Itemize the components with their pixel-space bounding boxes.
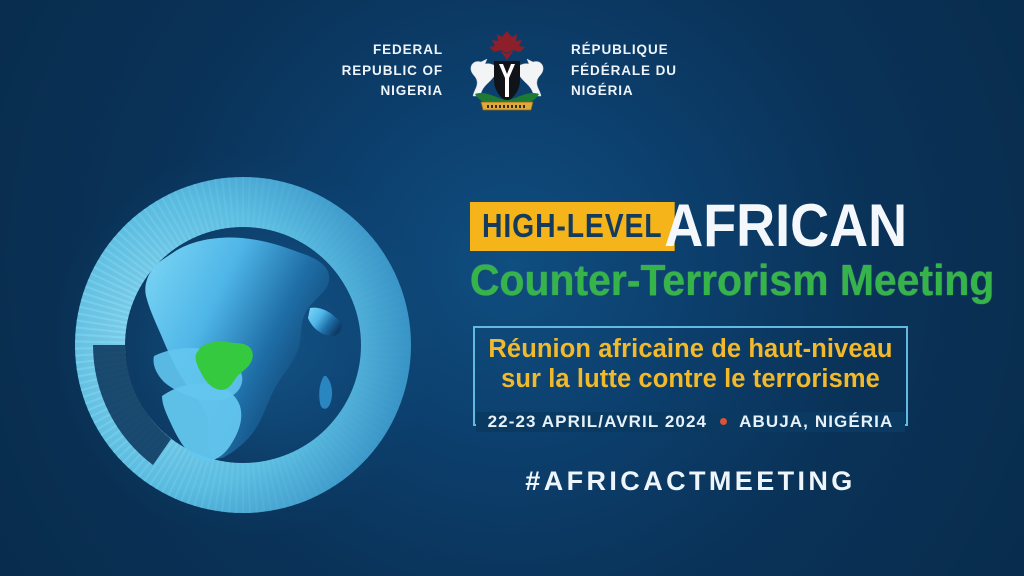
title-row: HIGH-LEVEL AFRICAN [470, 196, 990, 256]
africa-globe-graphic [58, 160, 428, 530]
separator-dot-icon [720, 418, 727, 425]
poster-canvas: FEDERAL REPUBLIC OF NIGERIA [0, 0, 1024, 576]
high-level-badge: HIGH-LEVEL [470, 202, 675, 251]
event-location: ABUJA, NIGÉRIA [739, 412, 893, 431]
event-date: 22-23 APRIL/AVRIL 2024 [488, 412, 707, 431]
french-title-line1: Réunion africaine de haut-niveau [473, 334, 908, 364]
header-left-line2: REPUBLIC OF [323, 61, 443, 82]
content-block: HIGH-LEVEL AFRICAN Counter-Terrorism Mee… [470, 0, 1024, 576]
header-left-line1: FEDERAL [323, 40, 443, 61]
event-hashtag: #AFRICACTMEETING [473, 466, 908, 497]
french-title-line2: sur la lutte contre le terrorisme [473, 364, 908, 394]
date-location-line: 22-23 APRIL/AVRIL 2024 ABUJA, NIGÉRIA [473, 412, 908, 432]
globe-svg [58, 160, 428, 530]
date-location-inner: 22-23 APRIL/AVRIL 2024 ABUJA, NIGÉRIA [476, 412, 906, 432]
header-left-text: FEDERAL REPUBLIC OF NIGERIA [323, 40, 443, 103]
header-left-line3: NIGERIA [323, 81, 443, 102]
title-subtitle: Counter-Terrorism Meeting [470, 258, 994, 304]
french-title-text: Réunion africaine de haut-niveau sur la … [473, 334, 908, 394]
title-african: AFRICAN [664, 196, 907, 256]
